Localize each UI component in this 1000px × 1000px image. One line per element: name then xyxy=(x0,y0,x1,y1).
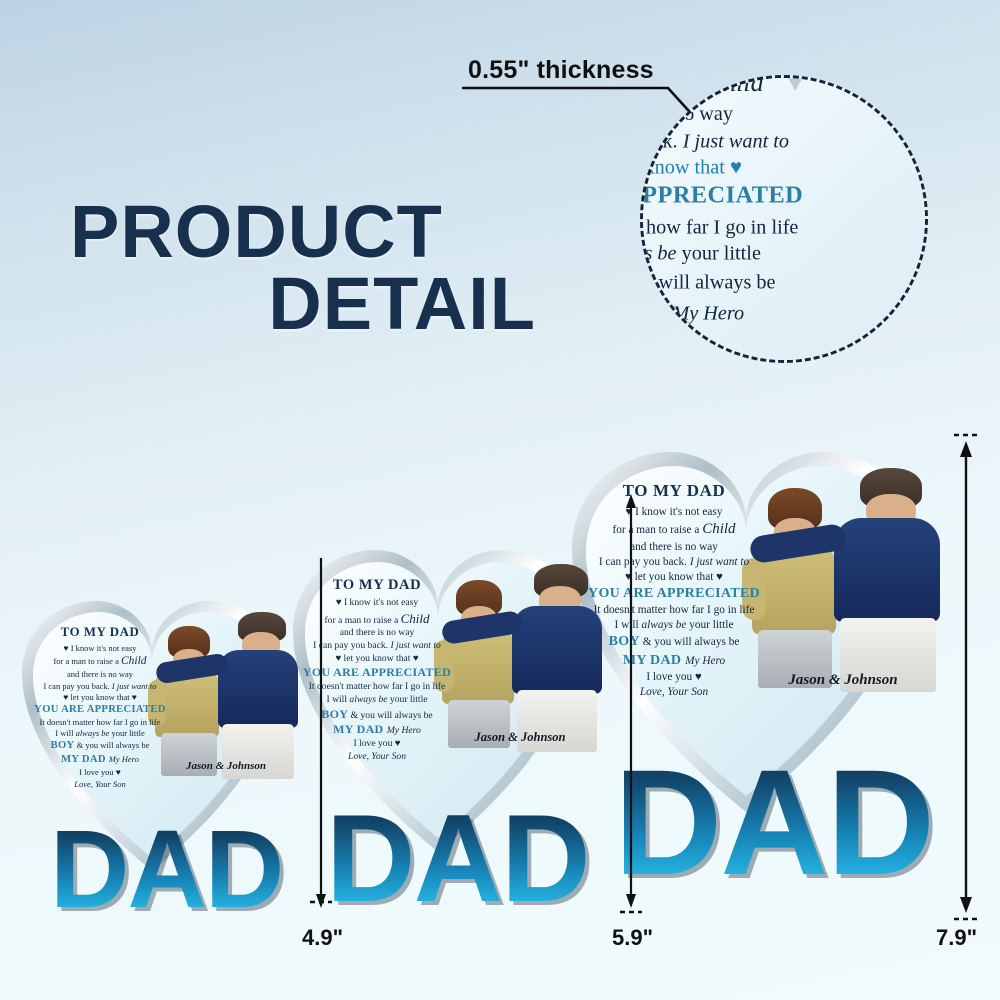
inset-message-appreciated: YOU ARE APPRECIATED xyxy=(640,181,841,213)
plaque-small-line-9: BOY & you will always be xyxy=(24,739,176,753)
page-title: PRODUCT DETAIL xyxy=(70,196,540,340)
plaque-small-signoff: Love, Your Son xyxy=(24,779,176,790)
plaque-large-line-1: ♥ I know it's not easy xyxy=(574,505,774,520)
plaque-small-line-2: for a man to raise a Child xyxy=(24,654,176,669)
plaque-small-line-4: I can pay you back. I just want to xyxy=(24,681,176,692)
plaque-large-line-2: for a man to raise a Child xyxy=(574,520,774,540)
plaque-small-line-3: and there is no way xyxy=(24,669,176,680)
inset-message-line-7: It doesn't matter how far I go in life xyxy=(640,214,841,241)
plaque-small-dad-word: DAD xyxy=(50,806,282,933)
inset-message-line-4: I can pay you back. I just want to xyxy=(640,128,841,155)
zoom-inset-circle: TO MY DAD ♥ I know it's not easy for a m… xyxy=(640,75,928,363)
inset-message-line-3: and there is no way xyxy=(640,101,841,128)
dimension-label-large-height: 7.9" xyxy=(936,925,977,951)
plaque-large-message-title: TO MY DAD xyxy=(574,480,774,502)
plaque-small-appreciated: YOU ARE APPRECIATED xyxy=(24,703,176,717)
plaque-small-line-5: ♥ let you know that ♥ xyxy=(24,692,176,703)
plaque-small[interactable]: TO MY DAD ♥ I know it's not easy for a m… xyxy=(18,592,286,922)
dimension-label-medium-width: 5.9" xyxy=(612,925,653,951)
inset-message-block: TO MY DAD ♥ I know it's not easy for a m… xyxy=(640,75,841,363)
inset-message-signoff: Love, Your Daughter xyxy=(640,358,841,363)
dimension-line-large-height xyxy=(944,425,990,930)
plaque-large-names: Jason & Johnson xyxy=(748,672,938,689)
plaque-medium-names: Jason & Johnson xyxy=(440,730,600,745)
plaque-medium-dad-word: DAD xyxy=(326,788,589,930)
inset-message-line-11: I love you ♥ xyxy=(640,331,841,358)
page-title-line-2: DETAIL xyxy=(70,268,540,340)
page-title-line-1: PRODUCT xyxy=(70,190,443,273)
dimension-label-small-width: 4.9" xyxy=(302,925,343,951)
plaque-large-dad-word: DAD xyxy=(614,736,933,909)
inset-message-line-10: MY DAD My Hero xyxy=(640,299,841,331)
product-detail-canvas: PRODUCT DETAIL 0.55" thickness xyxy=(0,0,1000,1000)
plaque-small-line-8: I will always be your little xyxy=(24,728,176,739)
inset-message-line-8: I will always be your little xyxy=(640,240,841,267)
inset-message-line-5: ♥ let you know that ♥ xyxy=(640,155,841,182)
inset-figure-daughter xyxy=(909,75,928,355)
plaque-small-line-7: It doesn't matter how far I go in life xyxy=(24,717,176,728)
inset-message-line-9: GILR & you will always be xyxy=(640,267,841,299)
plaque-small-names: Jason & Johnson xyxy=(154,760,298,772)
plaque-small-message-title: TO MY DAD xyxy=(24,624,176,641)
dimension-line-medium-width xyxy=(606,488,656,920)
dimension-line-small-width xyxy=(296,550,346,920)
zoom-inset-content: TO MY DAD ♥ I know it's not easy for a m… xyxy=(640,75,928,363)
plaque-large-line-3: and there is no way xyxy=(574,540,774,555)
plaque-small-line-1: ♥ I know it's not easy xyxy=(24,643,176,654)
inset-message-line-2: for a man to raise a Child xyxy=(640,75,841,101)
